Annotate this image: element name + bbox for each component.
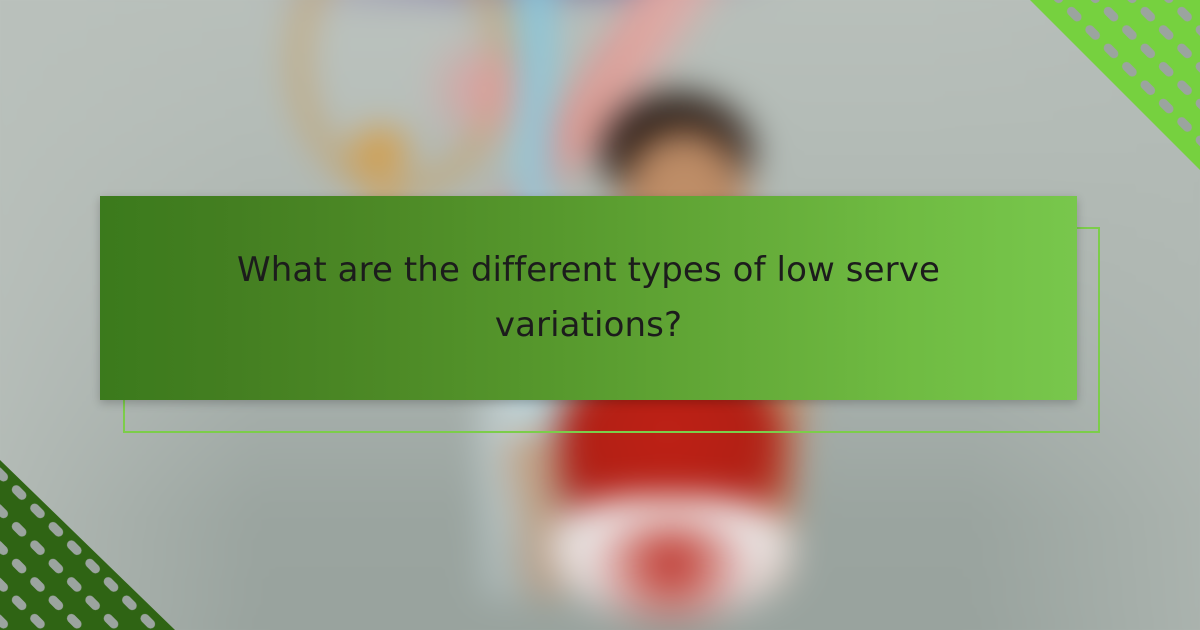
question-card: What are the different types of low serv… xyxy=(100,196,1077,400)
question-text: What are the different types of low serv… xyxy=(209,243,969,353)
player-lower-jersey xyxy=(596,520,746,630)
poster-canvas: What are the different types of low serv… xyxy=(0,0,1200,630)
